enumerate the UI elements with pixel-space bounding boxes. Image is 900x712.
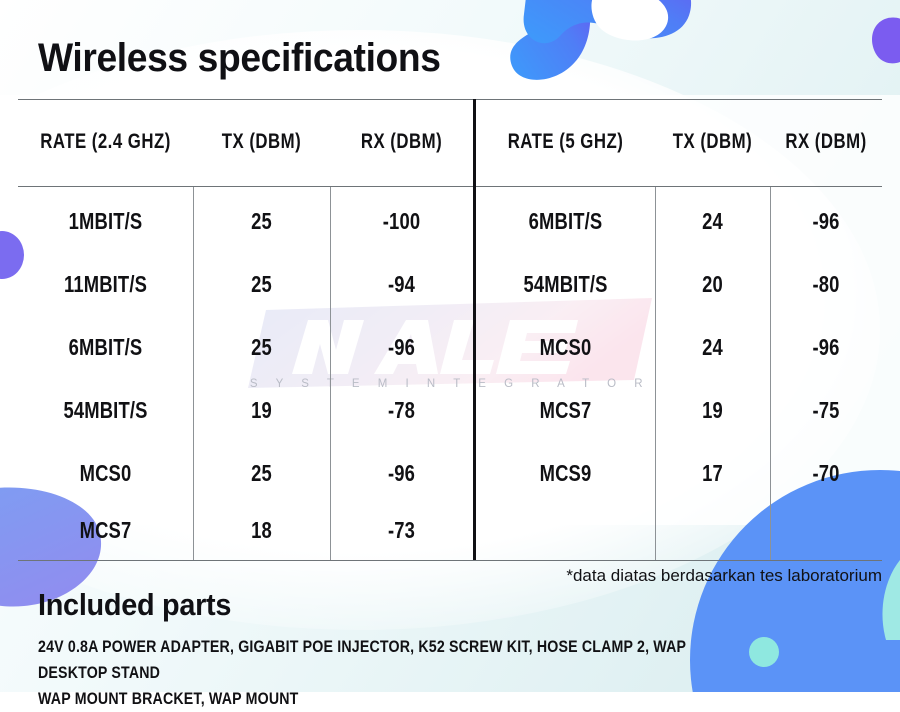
column-divider-left-1 [193, 187, 194, 560]
table-row: 25 [207, 333, 317, 361]
table-row: -78 [344, 396, 458, 424]
header-left-tx: TX (DBM) [207, 129, 317, 155]
table-row: 25 [207, 270, 317, 298]
table-bottom-rule [18, 560, 882, 561]
table-row: 24 [667, 207, 759, 235]
column-divider-right-2 [770, 187, 771, 560]
table-row: MCS0 [494, 333, 637, 361]
page-content: Wireless specifications RATE (2.4 GHZ) T… [0, 0, 900, 692]
table-row: -96 [344, 459, 458, 487]
table-row [494, 516, 637, 544]
column-divider-left-2 [330, 187, 331, 560]
table-row: 6MBIT/S [494, 207, 637, 235]
table-row: 25 [207, 459, 317, 487]
table-header-rule [18, 186, 882, 187]
table-row: 18 [207, 516, 317, 544]
included-parts-heading: Included parts [38, 587, 231, 623]
table-row: 1MBIT/S [36, 207, 176, 235]
wireless-specifications-table: RATE (2.4 GHZ) TX (DBM) RX (DBM) RATE (5… [18, 99, 882, 561]
table-row: 24 [667, 333, 759, 361]
table-row: -96 [344, 333, 458, 361]
table-row: MCS0 [36, 459, 176, 487]
table-row [781, 516, 871, 544]
header-left-rate: RATE (2.4 GHZ) [36, 129, 176, 155]
column-divider-right-1 [655, 187, 656, 560]
table-row: -80 [781, 270, 871, 298]
header-right-tx: TX (DBM) [667, 129, 759, 155]
table-row: 54MBIT/S [494, 270, 637, 298]
table-row: 54MBIT/S [36, 396, 176, 424]
table-row: MCS9 [494, 459, 637, 487]
table-row: -70 [781, 459, 871, 487]
header-right-rx: RX (DBM) [781, 129, 871, 155]
table-row: MCS7 [494, 396, 637, 424]
included-parts-list: 24V 0.8A POWER ADAPTER, GIGABIT POE INJE… [38, 634, 717, 712]
table-row: 19 [207, 396, 317, 424]
table-center-divider [473, 99, 476, 560]
table-row: 25 [207, 207, 317, 235]
lab-test-footnote: *data diatas berdasarkan tes laboratoriu… [470, 566, 882, 586]
page-title: Wireless specifications [38, 36, 441, 81]
table-row: 17 [667, 459, 759, 487]
table-row: -96 [781, 207, 871, 235]
table-row: -73 [344, 516, 458, 544]
header-right-rate: RATE (5 GHZ) [494, 129, 637, 155]
table-row: 20 [667, 270, 759, 298]
table-row: MCS7 [36, 516, 176, 544]
table-row: -94 [344, 270, 458, 298]
table-top-rule [18, 99, 882, 100]
table-row [667, 516, 759, 544]
table-row: -96 [781, 333, 871, 361]
header-left-rx: RX (DBM) [344, 129, 458, 155]
table-row: -75 [781, 396, 871, 424]
table-row: 11MBIT/S [36, 270, 176, 298]
table-row: 19 [667, 396, 759, 424]
table-row: 6MBIT/S [36, 333, 176, 361]
table-row: -100 [344, 207, 458, 235]
